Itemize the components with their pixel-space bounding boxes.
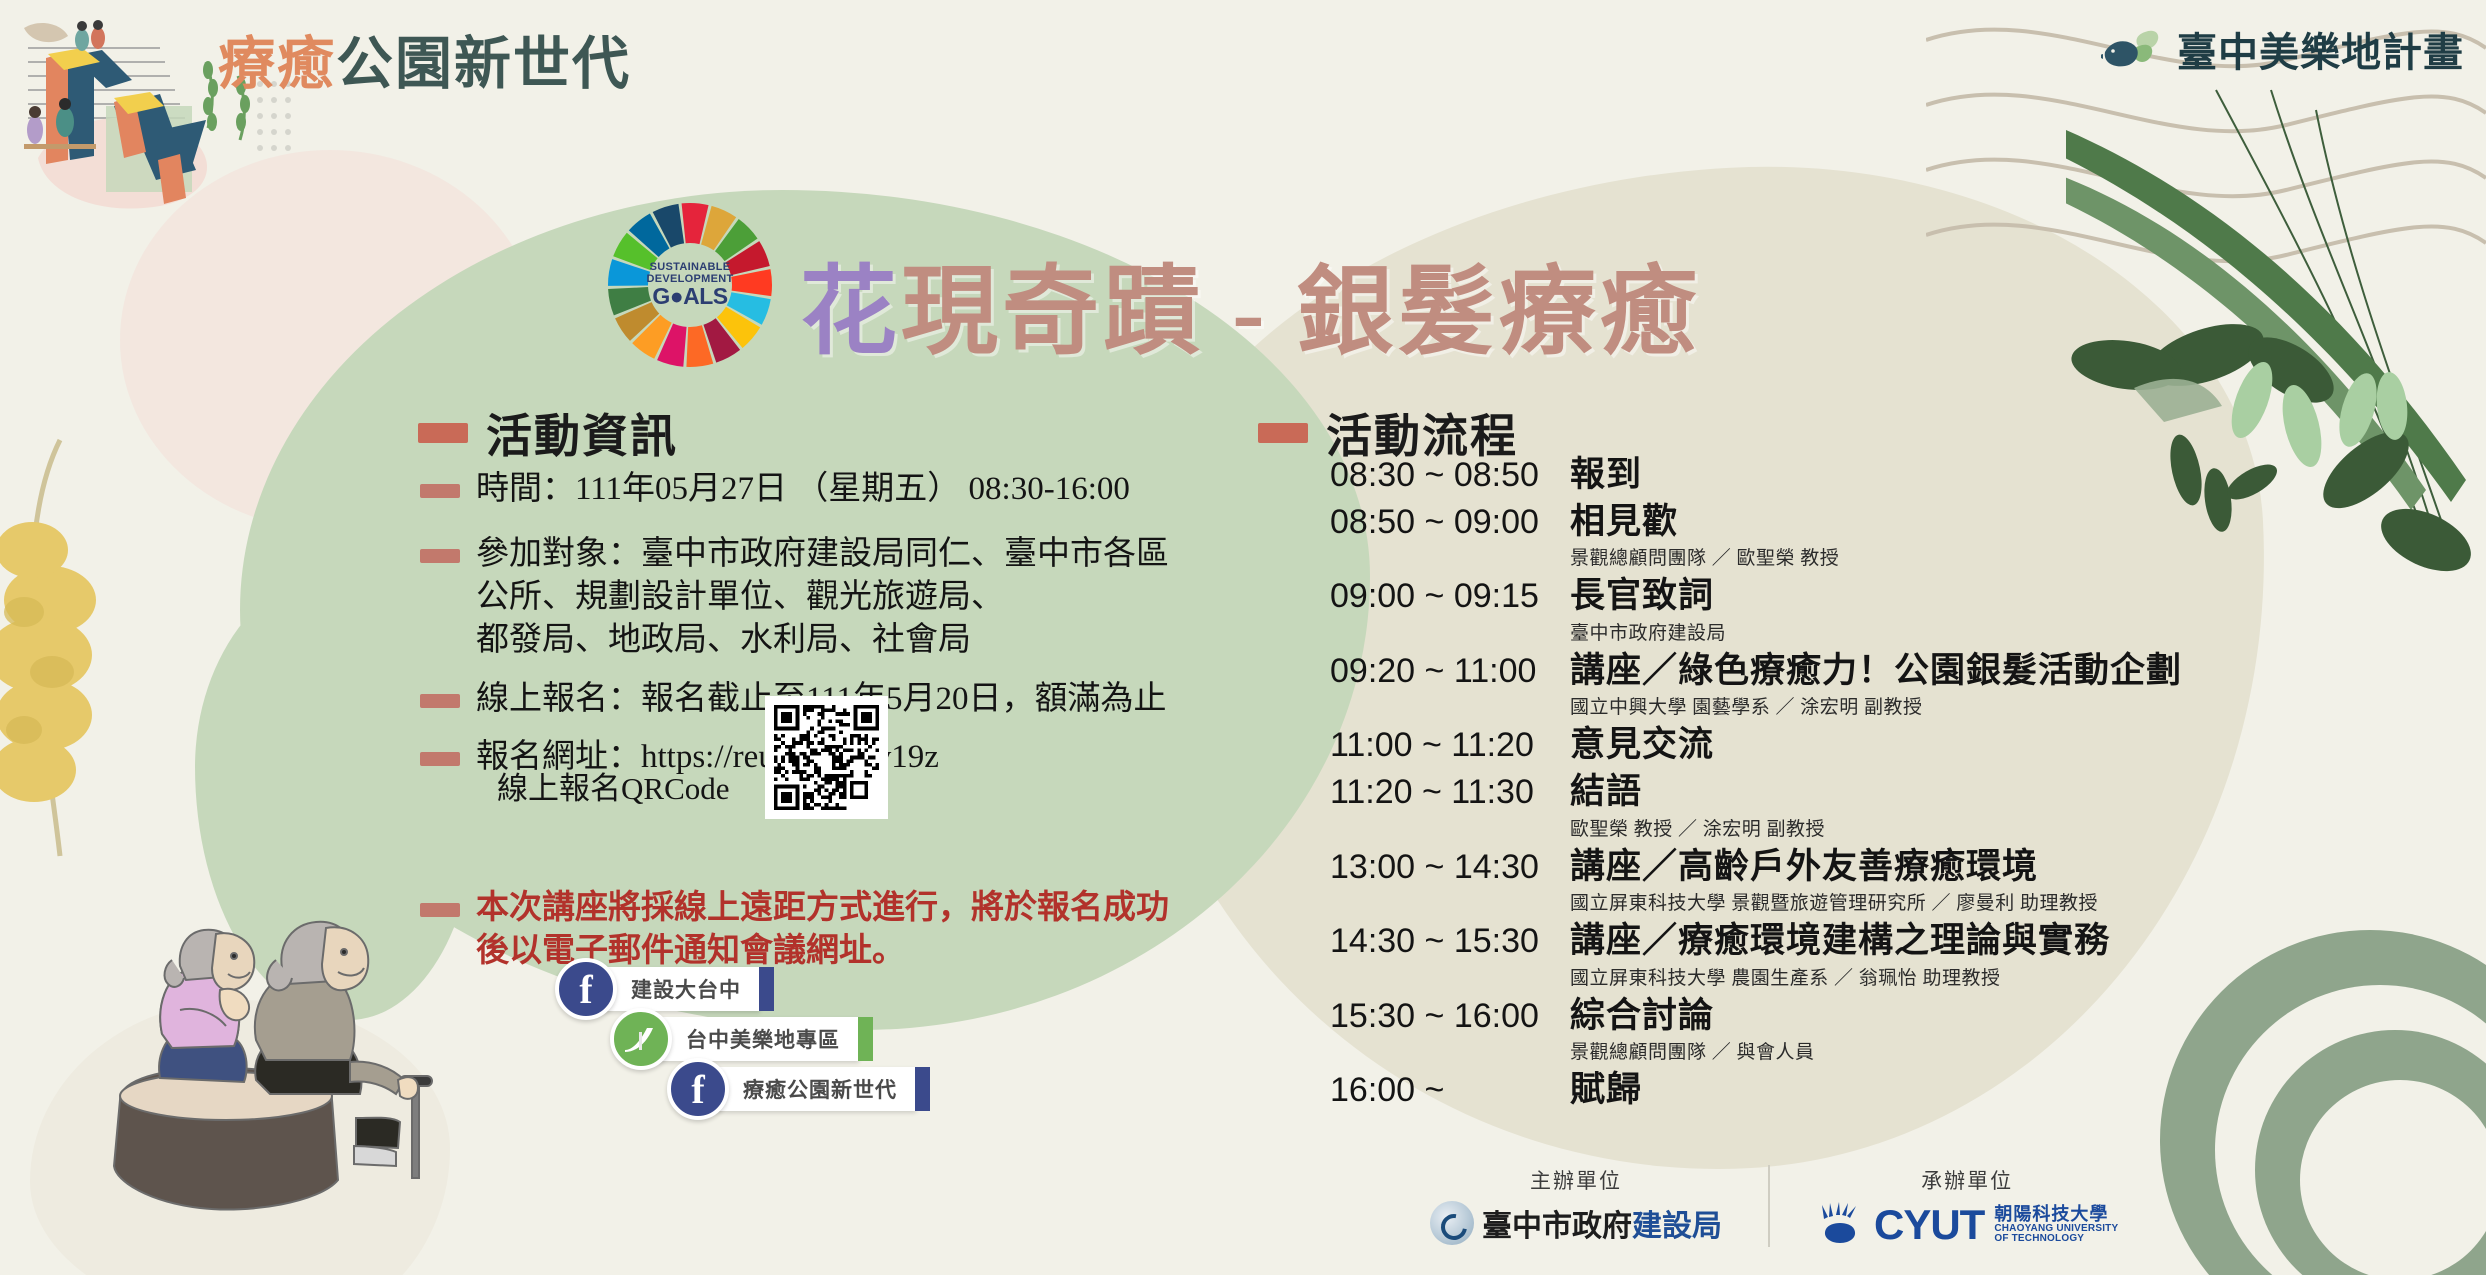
schedule-item-body: 講座／高齡戶外友善療癒環境國立屏東科技大學 景觀暨旅遊管理研究所 ／ 廖曼利 助… [1570, 847, 2340, 916]
info-row-audience-text: 參加對象：臺中市政府建設局同仁、臺中市各區 公所、規劃設計單位、觀光旅遊局、 都… [476, 533, 1169, 662]
schedule-item: 13:00 ~ 14:30講座／高齡戶外友善療癒環境國立屏東科技大學 景觀暨旅遊… [1330, 847, 2340, 916]
social-pill-1[interactable]: 台中美樂地專區 [652, 1017, 858, 1061]
bird-leaf-icon [2101, 26, 2163, 72]
footer-host: 主辦單位 臺中市政府建設局 [1430, 1165, 1722, 1245]
schedule-item-time: 11:00 ~ 11:20 [1330, 725, 1570, 765]
sdg-wheel-icon: SUSTAINABLE DEVELOPMENT G●ALS [595, 190, 785, 380]
brand-top-right: 臺中美樂地計畫 [2101, 20, 2464, 78]
header-title: 療癒公園新世代 [218, 18, 631, 100]
schedule-list: 08:30 ~ 08:50報到08:50 ~ 09:00相見歡景觀總顧問團隊 ／… [1330, 455, 2340, 1117]
registration-qrcode[interactable] [765, 696, 888, 819]
schedule-item-body: 綜合討論景觀總顧問團隊 ／ 與會人員 [1570, 996, 2340, 1065]
schedule-item-title: 報到 [1570, 455, 2340, 496]
facebook-glyph: f [579, 966, 592, 1013]
facebook-icon[interactable]: f [667, 1058, 729, 1120]
qrcode-label: 線上報名QRCode [497, 763, 730, 808]
schedule-item-time: 08:30 ~ 08:50 [1330, 455, 1570, 495]
schedule-item-body: 報到 [1570, 455, 2340, 496]
footer-divider [1768, 1165, 1770, 1247]
social-pill-2[interactable]: 療癒公園新世代 [709, 1067, 915, 1111]
schedule-item: 08:50 ~ 09:00相見歡景觀總顧問團隊 ／ 歐聖榮 教授 [1330, 502, 2340, 571]
bullet-dash-icon [420, 752, 460, 766]
schedule-item-title: 講座／高齡戶外友善療癒環境 [1570, 847, 2340, 888]
facebook-glyph: f [691, 1066, 704, 1113]
page-title: 花現奇蹟 - 銀髮療癒 [800, 232, 1701, 373]
schedule-item-body: 相見歡景觀總顧問團隊 ／ 歐聖榮 教授 [1570, 502, 2340, 571]
schedule-item-time: 13:00 ~ 14:30 [1330, 847, 1570, 887]
cyut-names: 朝陽科技大學 CHAOYANG UNIVERSITY OF TECHNOLOGY [1994, 1205, 2118, 1245]
brand-top-right-text: 臺中美樂地計畫 [2177, 20, 2464, 78]
poster-canvas: 療癒公園新世代 臺中美樂地計畫 SUSTAINABLE DEVELOPMENT … [0, 0, 2486, 1275]
schedule-item-speaker: 國立中興大學 園藝學系 ／ 涂宏明 副教授 [1570, 692, 2340, 719]
page-title-rest: 現奇蹟 - 銀髮療癒 [901, 259, 1701, 366]
schedule-item-body: 長官致詞臺中市政府建設局 [1570, 576, 2340, 645]
schedule-item-body: 講座／綠色療癒力！公園銀髮活動企劃國立中興大學 園藝學系 ／ 涂宏明 副教授 [1570, 651, 2340, 720]
bullet-dash-icon [420, 549, 460, 563]
schedule-item-time: 11:20 ~ 11:30 [1330, 772, 1570, 812]
schedule-item: 11:20 ~ 11:30結語歐聖榮 教授 ／ 涂宏明 副教授 [1330, 772, 2340, 841]
schedule-item: 15:30 ~ 16:00綜合討論景觀總顧問團隊 ／ 與會人員 [1330, 996, 2340, 1065]
header-title-orange: 療癒 [218, 33, 336, 96]
bullet-dash-icon [420, 484, 460, 498]
slide-park-icon[interactable] [610, 1008, 672, 1070]
schedule-item: 09:00 ~ 09:15長官致詞臺中市政府建設局 [1330, 576, 2340, 645]
schedule-item-title: 相見歡 [1570, 502, 2340, 543]
cyut-sun-icon [1816, 1201, 1864, 1249]
schedule-item: 09:20 ~ 11:00講座／綠色療癒力！公園銀髮活動企劃國立中興大學 園藝學… [1330, 651, 2340, 720]
schedule-item-title: 講座／療癒環境建構之理論與實務 [1570, 921, 2340, 962]
yellow-flower-illustration [0, 300, 150, 860]
cyut-cn-name: 朝陽科技大學 [1994, 1205, 2118, 1224]
schedule-item-time: 16:00 ~ [1330, 1070, 1570, 1110]
schedule-item-title: 意見交流 [1570, 725, 2340, 766]
event-info-heading-text: 活動資訊 [486, 400, 678, 466]
footer-host-caption: 主辦單位 [1530, 1165, 1622, 1195]
schedule-item-title: 講座／綠色療癒力！公園銀髮活動企劃 [1570, 651, 2340, 692]
social-pill-0[interactable]: 建設大台中 [597, 967, 759, 1011]
schedule-item-body: 結語歐聖榮 教授 ／ 涂宏明 副教授 [1570, 772, 2340, 841]
schedule-item: 14:30 ~ 15:30講座／療癒環境建構之理論與實務國立屏東科技大學 農園生… [1330, 921, 2340, 990]
info-row-notice: 本次講座將採線上遠距方式進行，將於報名成功 後以電子郵件通知會議網址。 [420, 887, 1210, 973]
schedule-item: 16:00 ~賦歸 [1330, 1070, 2340, 1111]
footer: 主辦單位 臺中市政府建設局 承辦單位 [1430, 1165, 2118, 1249]
heading-dash-icon [418, 423, 468, 443]
schedule-item-title: 賦歸 [1570, 1070, 2340, 1111]
bullet-dash-icon [420, 694, 460, 708]
schedule-item-body: 賦歸 [1570, 1070, 2340, 1111]
social-cap-0 [759, 967, 774, 1011]
schedule-item-time: 15:30 ~ 16:00 [1330, 996, 1570, 1036]
footer-host-name-blue: 建設局 [1632, 1210, 1722, 1243]
social-label-1: 台中美樂地專區 [686, 1024, 840, 1054]
schedule-item-title: 結語 [1570, 772, 2340, 813]
info-row-time-text: 時間：111年05月27日 （星期五） 08:30-16:00 [476, 468, 1130, 511]
cyut-en-name-2: OF TECHNOLOGY [1994, 1234, 2118, 1245]
schedule-item-title: 綜合討論 [1570, 996, 2340, 1037]
social-label-0: 建設大台中 [631, 974, 741, 1004]
playground-slide-icon [621, 1024, 661, 1054]
footer-host-name-dark: 臺中市政府 [1482, 1210, 1632, 1243]
schedule-item-time: 09:20 ~ 11:00 [1330, 651, 1570, 691]
footer-organizer-caption: 承辦單位 [1921, 1165, 2013, 1195]
footer-organizer: 承辦單位 CYUT 朝陽科技大學 CHAOYANG UNIVERSITY OF … [1816, 1165, 2118, 1249]
schedule-item-speaker: 景觀總顧問團隊 ／ 與會人員 [1570, 1037, 2340, 1064]
event-info-heading: 活動資訊 [418, 400, 678, 466]
elderly-couple-on-stump-illustration [20, 830, 450, 1230]
cyut-abbr: CYUT [1874, 1201, 1984, 1249]
social-link-2[interactable]: f 療癒公園新世代 [667, 1058, 930, 1120]
social-cap-2 [915, 1067, 930, 1111]
schedule-item-body: 意見交流 [1570, 725, 2340, 766]
footer-host-name: 臺中市政府建設局 [1482, 1201, 1722, 1245]
schedule-item-speaker: 景觀總顧問團隊 ／ 歐聖榮 教授 [1570, 543, 2340, 570]
schedule-item-speaker: 臺中市政府建設局 [1570, 618, 2340, 645]
cyut-logo: CYUT 朝陽科技大學 CHAOYANG UNIVERSITY OF TECHN… [1816, 1201, 2118, 1249]
schedule-item-time: 14:30 ~ 15:30 [1330, 921, 1570, 961]
schedule-item-speaker: 國立屏東科技大學 景觀暨旅遊管理研究所 ／ 廖曼利 助理教授 [1570, 888, 2340, 915]
schedule-item-speaker: 國立屏東科技大學 農園生產系 ／ 翁珮怡 助理教授 [1570, 963, 2340, 990]
social-cap-1 [858, 1017, 873, 1061]
info-row-audience: 參加對象：臺中市政府建設局同仁、臺中市各區 公所、規劃設計單位、觀光旅遊局、 都… [420, 533, 1210, 662]
facebook-icon[interactable]: f [555, 958, 617, 1020]
heading-dash-icon [1258, 423, 1308, 443]
schedule-item-speaker: 歐聖榮 教授 ／ 涂宏明 副教授 [1570, 814, 2340, 841]
header-title-dark: 公園新世代 [336, 33, 631, 96]
social-label-2: 療癒公園新世代 [743, 1074, 897, 1104]
taichung-city-emblem-icon: 臺中市政府建設局 [1430, 1201, 1722, 1245]
info-row-time: 時間：111年05月27日 （星期五） 08:30-16:00 [420, 468, 1210, 511]
schedule-item-body: 講座／療癒環境建構之理論與實務國立屏東科技大學 農園生產系 ／ 翁珮怡 助理教授 [1570, 921, 2340, 990]
schedule-item: 11:00 ~ 11:20意見交流 [1330, 725, 2340, 766]
schedule-item: 08:30 ~ 08:50報到 [1330, 455, 2340, 496]
taichung-emblem-mark [1430, 1201, 1474, 1245]
page-title-first-char: 花 [800, 259, 901, 366]
schedule-item-time: 08:50 ~ 09:00 [1330, 502, 1570, 542]
schedule-item-time: 09:00 ~ 09:15 [1330, 576, 1570, 616]
schedule-item-title: 長官致詞 [1570, 576, 2340, 617]
